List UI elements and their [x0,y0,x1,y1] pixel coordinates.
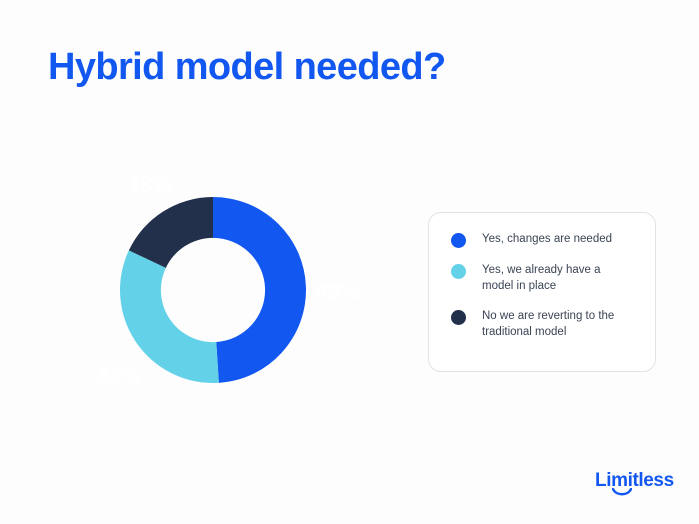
page-title: Hybrid model needed? [48,44,446,90]
donut-chart-svg [120,197,306,383]
donut-slice-0[interactable] [213,197,306,383]
legend-item-0[interactable]: Yes, changes are needed [451,231,645,248]
legend-item-label-2: No we are reverting to the traditional m… [482,308,630,340]
slice-label-0: 49% [315,279,358,305]
slice-label-2: 18% [128,172,171,198]
donut-chart: 49% 33% 18% [120,197,306,383]
legend-swatch-icon-0 [451,233,466,248]
smile-arc-icon [612,488,632,497]
legend-list: Yes, changes are needed Yes, we already … [451,231,645,340]
donut-slices [120,197,306,383]
legend-swatch-icon-2 [451,310,466,325]
legend-swatch-icon-1 [451,264,466,279]
slice-label-1: 33% [97,363,140,389]
legend-item-1[interactable]: Yes, we already have a model in place [451,262,645,294]
brand-logo: Limitless [595,471,677,497]
legend-item-label-0: Yes, changes are needed [482,231,612,247]
legend-card: Yes, changes are needed Yes, we already … [428,212,656,372]
slide-canvas: Hybrid model needed? 49% 33% 18% Yes, ch… [0,0,699,524]
legend-item-2[interactable]: No we are reverting to the traditional m… [451,308,645,340]
brand-logo-text: Limitless [595,471,674,491]
legend-item-label-1: Yes, we already have a model in place [482,262,630,294]
